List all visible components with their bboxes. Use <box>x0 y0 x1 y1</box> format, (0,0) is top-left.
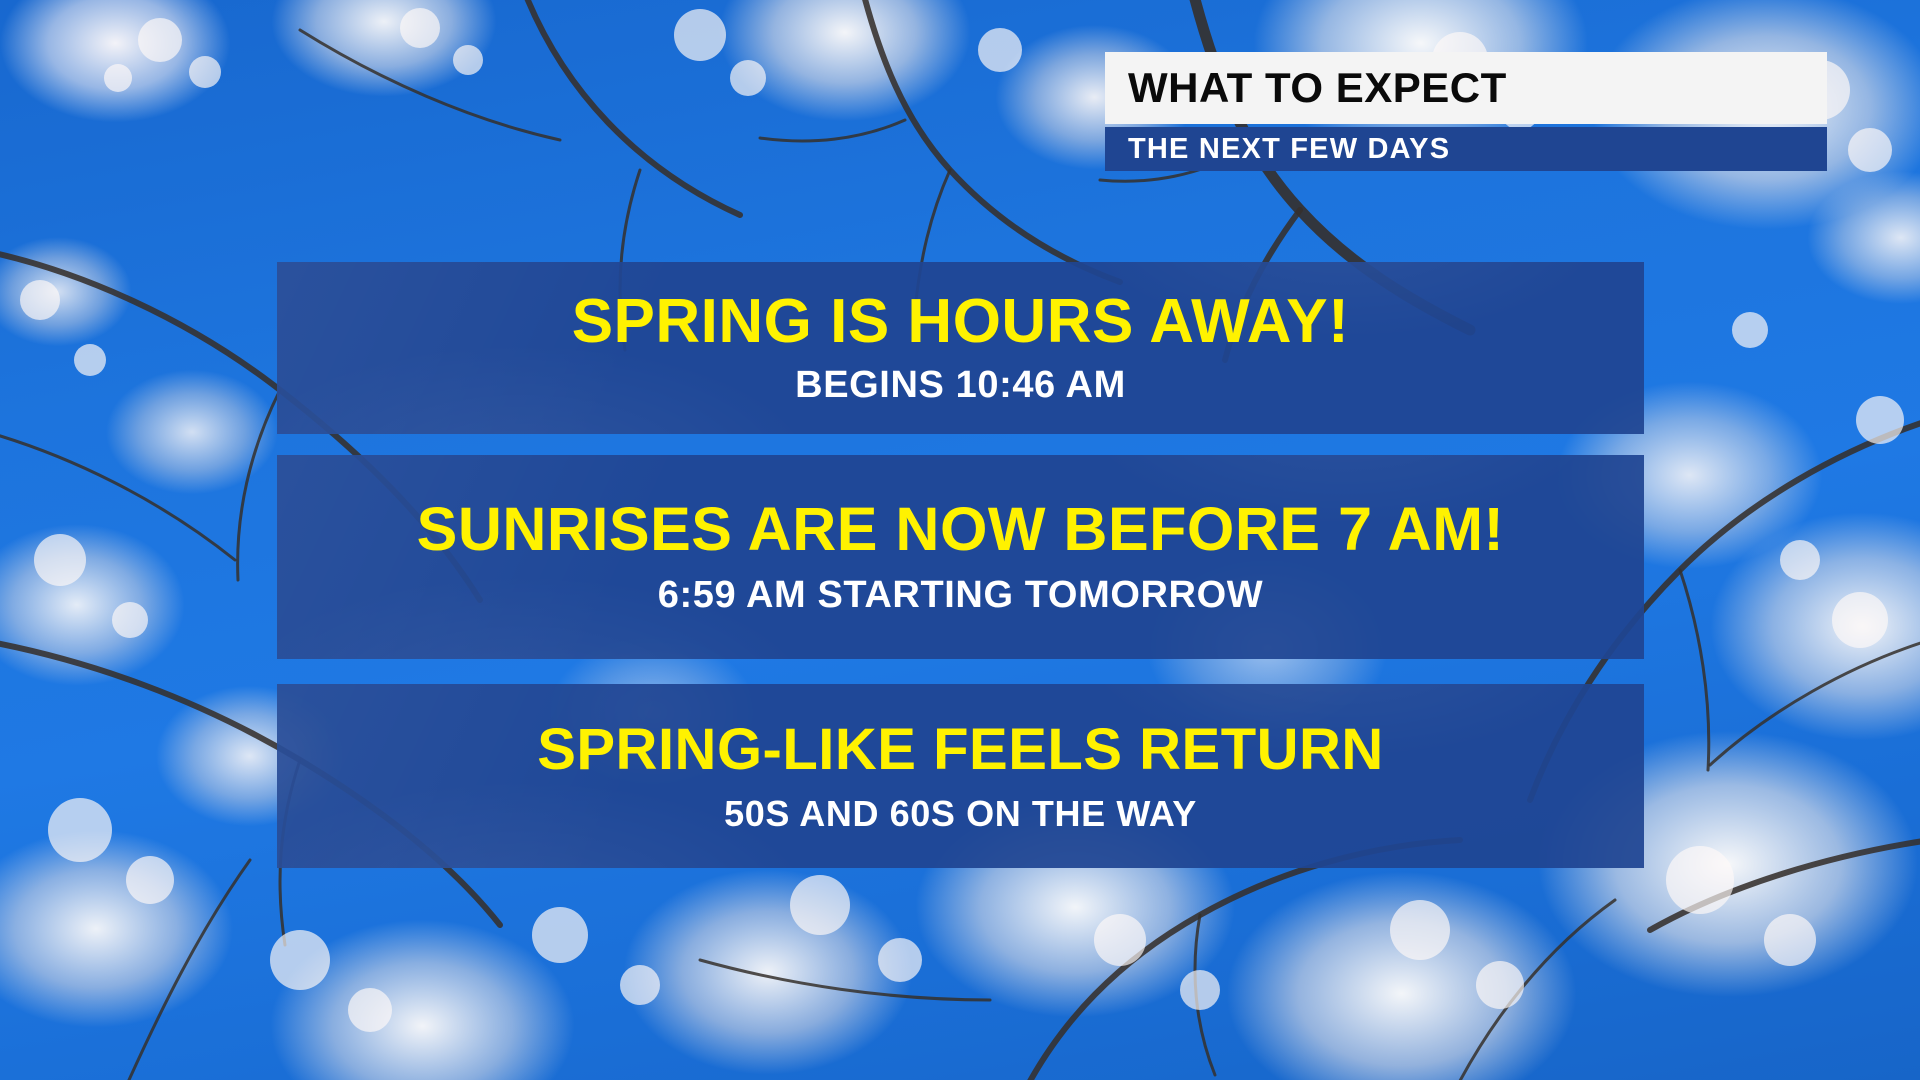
page-title: WHAT TO EXPECT <box>1128 67 1507 109</box>
panel-headline: SUNRISES ARE NOW BEFORE 7 AM! <box>277 498 1644 560</box>
panel-subtext: 6:59 AM STARTING TOMORROW <box>277 576 1644 616</box>
panel-subtext: 50S AND 60S ON THE WAY <box>277 795 1644 833</box>
weather-graphic-stage: WHAT TO EXPECT THE NEXT FEW DAYS SPRING … <box>0 0 1920 1080</box>
panel-subtext: BEGINS 10:46 AM <box>277 366 1644 406</box>
forecast-panel-temperatures: SPRING-LIKE FEELS RETURN 50S AND 60S ON … <box>277 684 1644 868</box>
panel-headline: SPRING-LIKE FEELS RETURN <box>277 720 1644 779</box>
page-subtitle: THE NEXT FEW DAYS <box>1128 135 1450 164</box>
panel-headline: SPRING IS HOURS AWAY! <box>277 290 1644 353</box>
header-subtitle-bar: THE NEXT FEW DAYS <box>1105 127 1827 171</box>
forecast-panel-list: SPRING IS HOURS AWAY! BEGINS 10:46 AM SU… <box>277 262 1644 868</box>
forecast-panel-sunrise: SUNRISES ARE NOW BEFORE 7 AM! 6:59 AM ST… <box>277 455 1644 659</box>
header-banner: WHAT TO EXPECT THE NEXT FEW DAYS <box>1105 52 1827 171</box>
header-title-bar: WHAT TO EXPECT <box>1105 52 1827 124</box>
forecast-panel-spring-begins: SPRING IS HOURS AWAY! BEGINS 10:46 AM <box>277 262 1644 434</box>
